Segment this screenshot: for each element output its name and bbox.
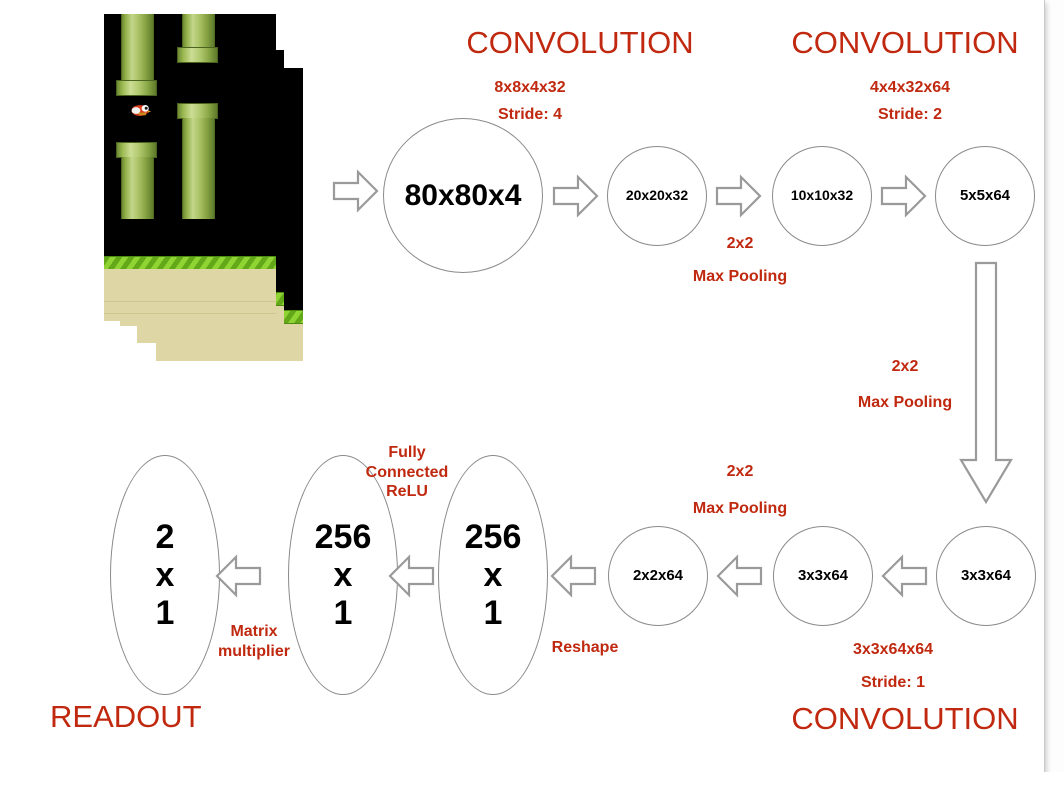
matrix-multiplier-label: Matrix multiplier	[189, 622, 319, 661]
pipe-top-left	[121, 14, 154, 81]
pool3-name: Max Pooling	[655, 499, 825, 519]
node-conv3-out-label: 3x3x64	[798, 568, 848, 585]
pipe-cap-top-middle	[177, 47, 218, 63]
conv3-title: CONVOLUTION	[740, 700, 1064, 738]
arrow-fc-in-to-fc-out	[389, 555, 435, 597]
node-fc-out-label: 256 x 1	[315, 518, 372, 632]
arrow-pool3-to-fc-in	[551, 555, 597, 597]
node-pool3-out-label: 2x2x64	[633, 568, 683, 585]
node-fc-in-label: 256 x 1	[465, 518, 522, 632]
pipe-bottom-middle	[182, 118, 215, 219]
conv2-kernel: 4x4x32x64	[820, 78, 1000, 98]
node-input: 80x80x4	[383, 118, 543, 273]
pipe-cap-bottom-middle	[177, 103, 218, 119]
arrow-pool2-to-conv3	[882, 555, 928, 597]
node-conv2-out: 5x5x64	[935, 146, 1035, 246]
node-pool1-out: 10x10x32	[772, 146, 872, 246]
node-pool1-out-label: 10x10x32	[791, 188, 853, 204]
pipe-cap-bottom-left	[116, 142, 157, 158]
arrow-input-to-conv1	[333, 170, 379, 212]
arrow-conv3-to-pool3	[717, 555, 763, 597]
pool2-size: 2x2	[820, 357, 990, 377]
conv3-stride: Stride: 1	[768, 673, 1018, 693]
pool2-name: Max Pooling	[820, 393, 990, 413]
arrow-pool1-to-conv2	[716, 175, 762, 217]
pipe-cap-top-left	[116, 80, 157, 96]
frame1-grass	[104, 256, 276, 270]
reshape-label: Reshape	[500, 638, 670, 658]
arrow-down-to-bottom-row	[958, 262, 1014, 504]
node-pool2-out-label: 3x3x64	[961, 568, 1011, 585]
page-bottom-margin	[0, 772, 1064, 807]
ground-line-2	[104, 313, 276, 314]
conv2-stride: Stride: 2	[820, 105, 1000, 125]
pool1-name: Max Pooling	[655, 267, 825, 287]
node-input-label: 80x80x4	[405, 179, 522, 213]
node-conv1-out-label: 20x20x32	[626, 188, 688, 204]
fully-connected-label: Fully Connected ReLU	[347, 443, 467, 502]
pipe-bottom-left	[121, 157, 154, 219]
arrow-fc-out-to-readout	[216, 555, 262, 597]
arrow-conv2-to-pool2	[881, 175, 927, 217]
node-pool2-out: 3x3x64	[936, 526, 1036, 626]
node-conv3-out: 3x3x64	[773, 526, 873, 626]
pipe-top-middle	[182, 14, 215, 48]
node-readout-out-label: 2 x 1	[156, 518, 175, 632]
game-frame-1	[104, 14, 276, 321]
ground-line-1	[104, 301, 276, 302]
pool1-size: 2x2	[655, 234, 825, 254]
node-conv1-out: 20x20x32	[607, 146, 707, 246]
node-pool3-out: 2x2x64	[608, 526, 708, 626]
conv2-title: CONVOLUTION	[740, 24, 1064, 62]
pool3-size: 2x2	[655, 462, 825, 482]
bird-sprite	[131, 103, 151, 117]
diagram-canvas: CONVOLUTION 8x8x4x32 Stride: 4 CONVOLUTI…	[0, 0, 1064, 807]
node-conv2-out-label: 5x5x64	[960, 188, 1010, 205]
arrow-conv1-to-pool1	[553, 175, 599, 217]
conv1-kernel: 8x8x4x32	[440, 78, 620, 98]
frame1-ground	[104, 269, 276, 321]
conv1-title: CONVOLUTION	[405, 24, 755, 62]
readout-title: READOUT	[50, 698, 300, 736]
conv3-kernel: 3x3x64x64	[768, 640, 1018, 660]
